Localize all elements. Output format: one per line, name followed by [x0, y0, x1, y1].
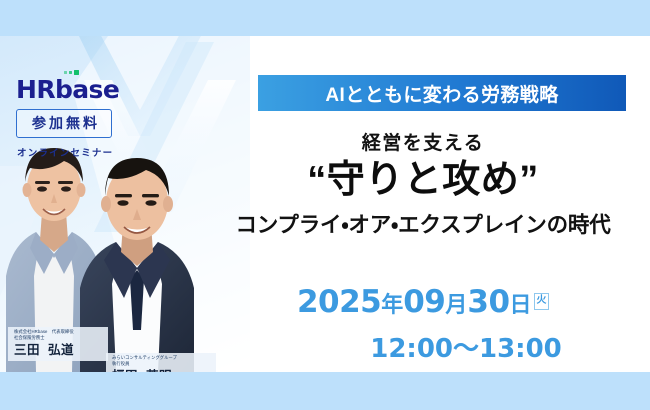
bottom-band [0, 372, 650, 410]
title-bar-text: AIとともに変わる労務戦略 [325, 80, 558, 107]
event-time: 12:00〜13:00 [196, 328, 650, 365]
seminar-type-label: オンラインセミナー [16, 145, 136, 159]
headline-line-2: “守りと攻め” [196, 160, 650, 202]
hrbase-dots-icon [64, 68, 136, 78]
date-month: 09 [403, 284, 445, 320]
main-content: AIとともに変わる労務戦略 経営を支える “守りと攻め” コンプライ・オア・エク… [196, 36, 650, 372]
free-entry-badge: 参加無料 [16, 109, 112, 138]
event-date: 2025年09月30日火 [196, 284, 650, 320]
speaker-nameplate-2: みらいコンサルティンググループ 執行役員 福田芳明 [106, 353, 216, 372]
brand-block: HRbase 参加無料 オンラインセミナー [16, 68, 136, 159]
date-weekday-badge: 火 [534, 293, 550, 310]
speaker-nameplate-1: 株式会社HRbase 代表取締役 社会保険労務士 三田弘道 [8, 327, 108, 361]
headline-line-3: コンプライ・オア・エクスプレインの時代 [196, 208, 650, 239]
date-year-unit: 年 [381, 292, 403, 317]
speaker-2-name: 福田芳明 [112, 369, 210, 372]
speaker-2-role: みらいコンサルティンググループ 執行役員 [112, 356, 212, 367]
speaker-1-name: 三田弘道 [14, 343, 102, 357]
date-year: 2025 [297, 284, 381, 320]
hrbase-logo-text: HRbase [16, 77, 136, 102]
banner-stage: 株式会社HRbase 代表取締役 社会保険労務士 三田弘道 みらいコンサルティン… [0, 36, 650, 372]
speaker-1-role: 株式会社HRbase 代表取締役 社会保険労務士 [14, 330, 104, 341]
seminar-banner: 株式会社HRbase 代表取締役 社会保険労務士 三田弘道 みらいコンサルティン… [0, 0, 650, 410]
date-day: 30 [467, 284, 509, 320]
title-bar: AIとともに変わる労務戦略 [258, 75, 626, 111]
date-month-unit: 月 [445, 292, 467, 317]
top-band [0, 0, 650, 36]
date-day-unit: 日 [510, 292, 532, 317]
headline-line-1: 経営を支える [196, 128, 650, 155]
